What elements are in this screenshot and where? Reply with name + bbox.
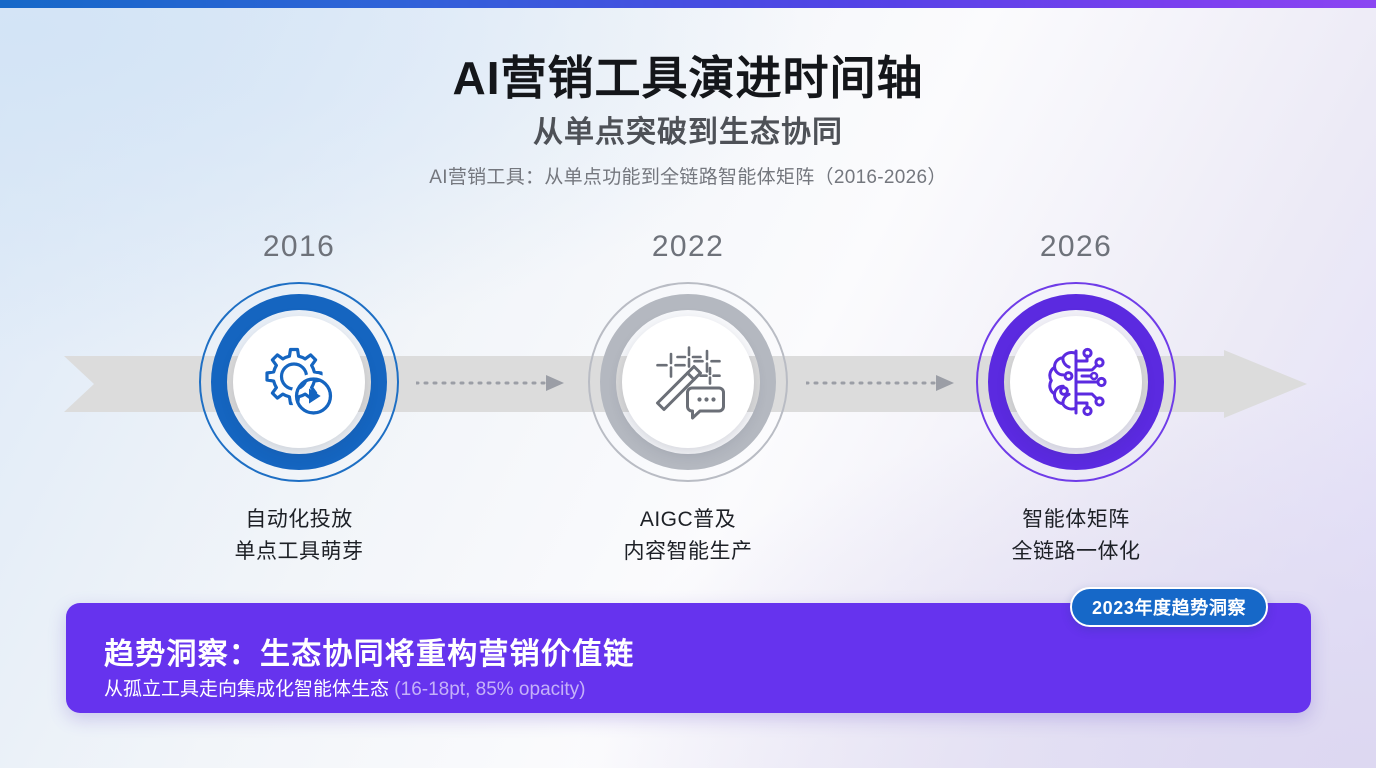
node-year-2016: 2016	[179, 232, 419, 268]
brain-circuit-icon	[1037, 343, 1115, 421]
node-circle-2022[interactable]	[588, 282, 788, 482]
node-circle-2026[interactable]	[976, 282, 1176, 482]
timeline-node-2022[interactable]: 2022	[568, 232, 808, 568]
insight-subtitle-main: 从孤立工具走向集成化智能体生态	[104, 679, 389, 700]
status-badge[interactable]: 2023年度趋势洞察	[1070, 587, 1268, 627]
insight-banner-subtitle: 从孤立工具走向集成化智能体生态 (16-18pt, 85% opacity)	[104, 674, 585, 701]
insight-subtitle-note: (16-18pt, 85% opacity)	[394, 679, 585, 700]
node-label-2022: AIGC普及 内容智能生产	[568, 504, 808, 568]
node-circle-2016[interactable]	[199, 282, 399, 482]
slide-canvas: AI营销工具演进时间轴 从单点突破到生态协同 AI营销工具：从单点功能到全链路智…	[0, 0, 1376, 768]
node-year-2026: 2026	[956, 232, 1196, 268]
insight-banner-title: 趋势洞察：生态协同将重构营销价值链	[104, 629, 634, 673]
gear-play-icon	[260, 343, 338, 421]
node-icon-disc	[622, 316, 754, 448]
node-year-2022: 2022	[568, 232, 808, 268]
connector-2022-to-2026	[806, 372, 956, 394]
node-icon-disc	[1010, 316, 1142, 448]
node-icon-disc	[233, 316, 365, 448]
timeline-node-2026[interactable]: 2026	[956, 232, 1196, 568]
magic-wand-chat-icon	[649, 343, 727, 421]
node-label-line2: 单点工具萌芽	[179, 536, 419, 568]
page-description: AI营销工具：从单点功能到全链路智能体矩阵（2016-2026）	[0, 162, 1376, 189]
node-label-line2: 内容智能生产	[568, 536, 808, 568]
header: AI营销工具演进时间轴 从单点突破到生态协同 AI营销工具：从单点功能到全链路智…	[0, 52, 1376, 189]
top-accent-bar	[0, 0, 1376, 8]
page-subtitle: 从单点突破到生态协同	[0, 115, 1376, 151]
node-label-line2: 全链路一体化	[956, 536, 1196, 568]
node-label-2026: 智能体矩阵 全链路一体化	[956, 504, 1196, 568]
node-label-2016: 自动化投放 单点工具萌芽	[179, 504, 419, 568]
connector-2016-to-2022	[416, 372, 566, 394]
node-label-line1: 自动化投放	[179, 504, 419, 536]
timeline-node-2016[interactable]: 2016 自动化投放 单点工	[179, 232, 419, 568]
page-title: AI营销工具演进时间轴	[0, 52, 1376, 105]
node-label-line1: AIGC普及	[568, 504, 808, 536]
node-label-line1: 智能体矩阵	[956, 504, 1196, 536]
